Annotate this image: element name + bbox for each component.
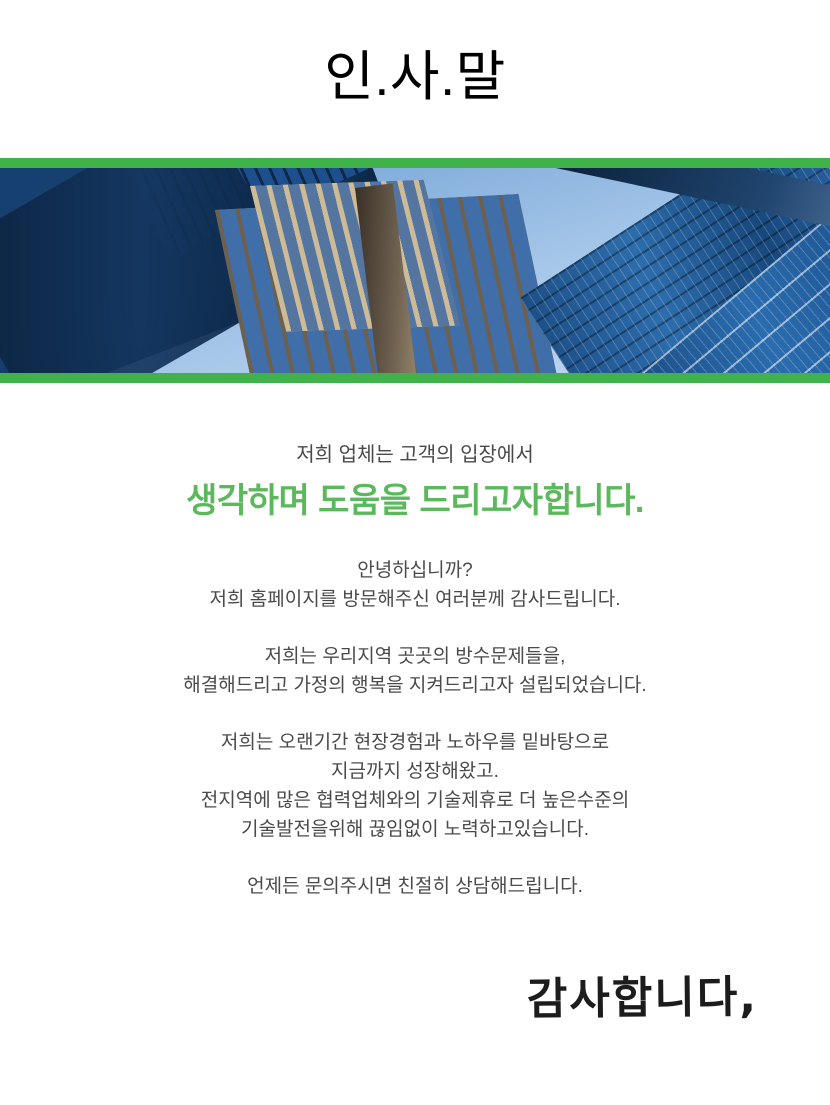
lead-headline-text: 생각하며 도움을 드리고자합니다. [0,478,830,524]
paragraph-line: 언제든 문의주시면 친절히 상담해드립니다. [0,872,830,901]
greeting-paragraph-2: 저희는 우리지역 곳곳의 방수문제들을, 해결해드리고 가정의 행복을 지켜드리… [0,642,830,700]
paragraph-line: 저희는 오랜기간 현장경험과 노하우를 밑바탕으로 [0,728,830,757]
signature-text: 감사합니다, [0,968,830,1035]
greeting-paragraph-3: 저희는 오랜기간 현장경험과 노하우를 밑바탕으로 지금까지 성장해왔고. 전지… [0,728,830,844]
hero-banner [0,158,830,383]
building-center-upper-section [250,180,460,332]
hero-photo-buildings [0,158,830,383]
paragraph-line: 지금까지 성장해왔고. [0,757,830,786]
paragraph-line: 기술발전을위해 끊임없이 노력하고있습니다. [0,815,830,844]
hero-top-accent-bar [0,158,830,168]
lead-small-text: 저희 업체는 고객의 입장에서 [0,440,830,470]
paragraph-line: 안녕하십니까? [0,556,830,585]
paragraph-line: 저희는 우리지역 곳곳의 방수문제들을, [0,642,830,671]
paragraph-line: 저희 홈페이지를 방문해주신 여러분께 감사드립니다. [0,585,830,614]
hero-bottom-accent-bar [0,373,830,383]
greeting-paragraph-4: 언제든 문의주시면 친절히 상담해드립니다. [0,872,830,901]
greeting-message: 저희 업체는 고객의 입장에서 생각하며 도움을 드리고자합니다. 안녕하십니까… [0,440,830,901]
page-title: 인.사.말 [0,44,830,110]
paragraph-line: 전지역에 많은 협력업체와의 기술제휴로 더 높은수준의 [0,786,830,815]
greeting-paragraph-1: 안녕하십니까? 저희 홈페이지를 방문해주신 여러분께 감사드립니다. [0,556,830,614]
paragraph-line: 해결해드리고 가정의 행복을 지켜드리고자 설립되었습니다. [0,671,830,700]
